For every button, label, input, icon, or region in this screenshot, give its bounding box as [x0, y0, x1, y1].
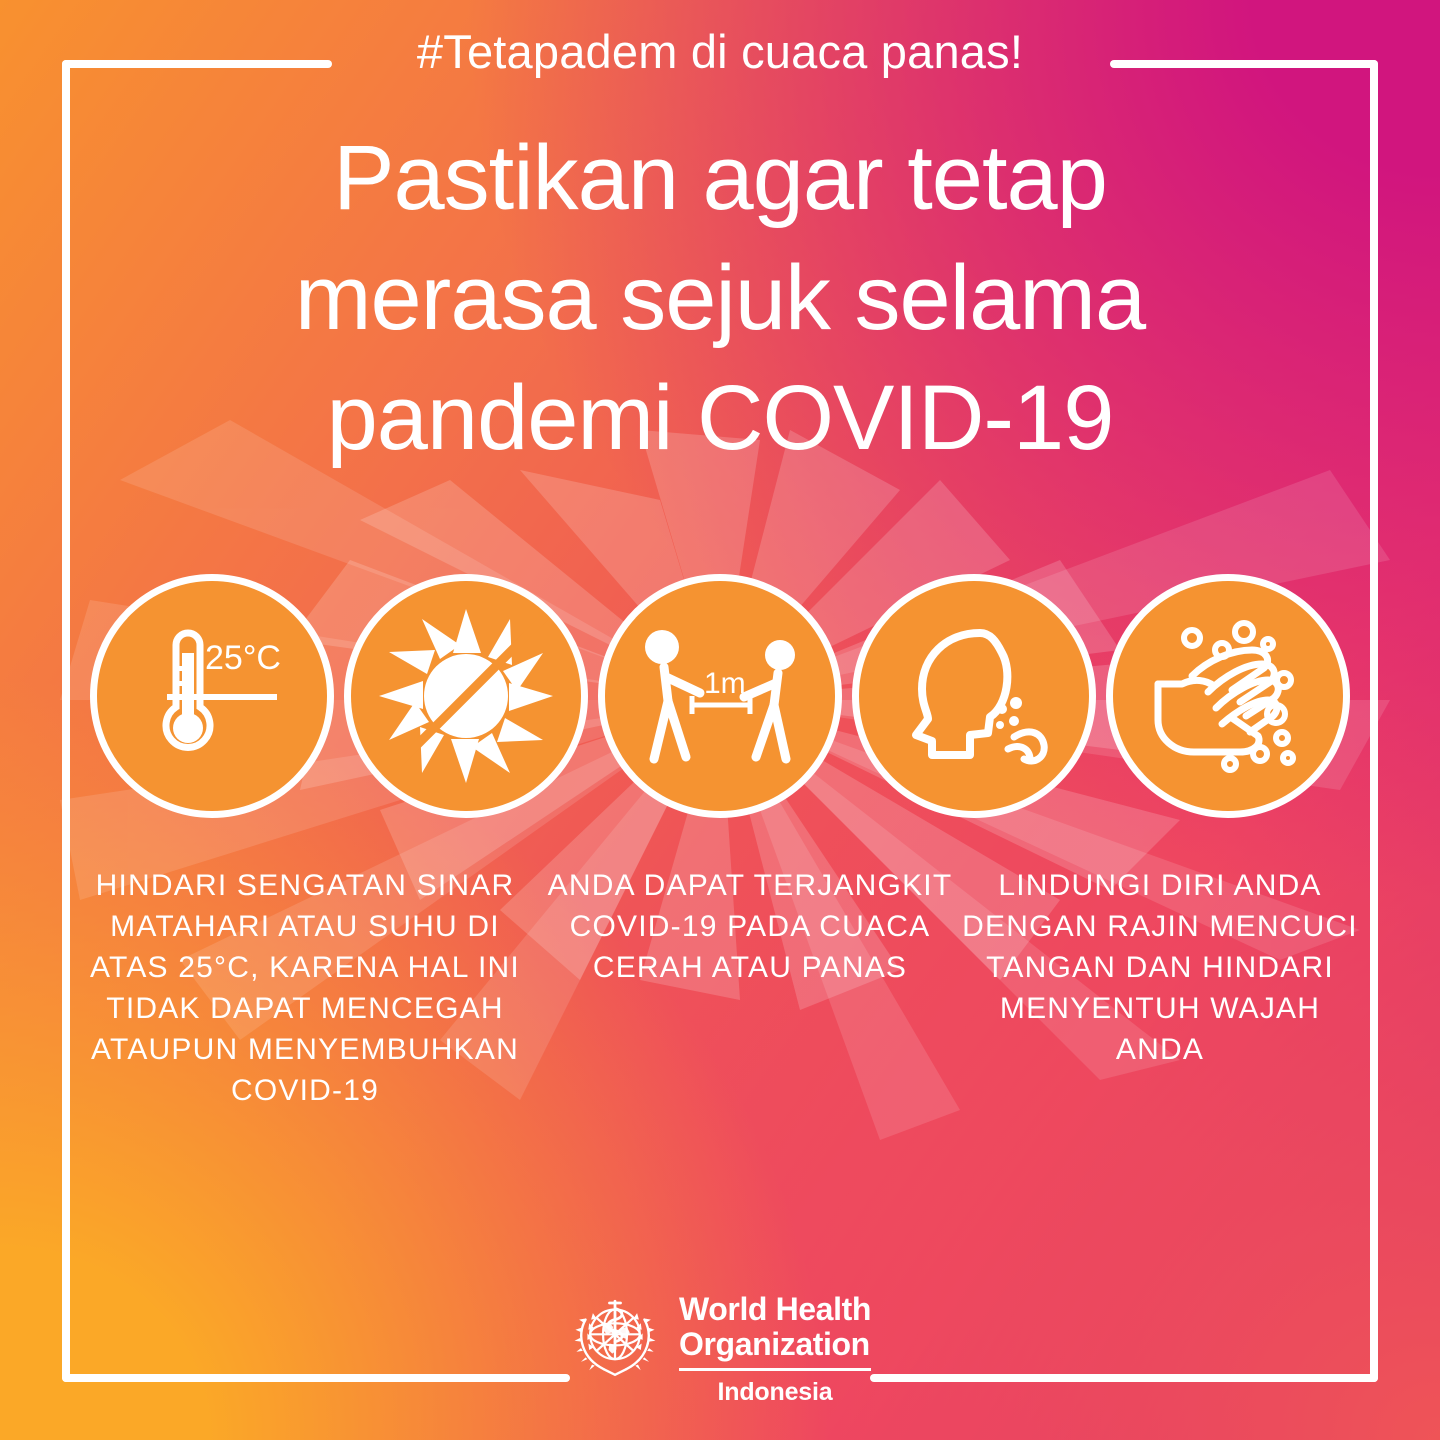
thermometer-temperature-label: 25°C: [205, 639, 281, 677]
icon-row: 25°C: [90, 572, 1350, 820]
physical-distancing-icon: 1m: [598, 574, 842, 818]
who-country-label: Indonesia: [679, 1378, 871, 1407]
thermometer-icon: 25°C: [90, 574, 334, 818]
frame-border-right: [1370, 60, 1378, 1382]
sun-icon: [344, 574, 588, 818]
caption-text: Lindungi diri Anda dengan rajin mencuci …: [960, 865, 1360, 1070]
distance-label: 1m: [704, 667, 746, 700]
frame-border-left: [62, 60, 70, 1382]
who-emblem-icon: [569, 1292, 661, 1384]
who-logo: World Health Organization Indonesia: [0, 1292, 1440, 1407]
coughing-head-icon: [852, 574, 1096, 818]
caption-row: Hindari sengatan sinar matahari atau suh…: [70, 865, 1370, 1111]
hashtag-text: #Tetapadem di cuaca panas!: [0, 24, 1440, 79]
page-title: Pastikan agar tetap merasa sejuk selama …: [210, 118, 1230, 478]
handwashing-icon: [1106, 574, 1350, 818]
headline-line-3: pandemi COVID-19: [210, 358, 1230, 478]
who-divider: [679, 1368, 871, 1371]
caption-text: Anda dapat terjangkit COVID-19 pada cuac…: [540, 865, 960, 988]
who-name-line-1: World Health: [679, 1292, 871, 1327]
who-name-line-2: Organization: [679, 1327, 871, 1362]
headline-line-1: Pastikan agar tetap: [210, 118, 1230, 238]
headline-line-2: merasa sejuk selama: [210, 238, 1230, 358]
caption-text: Hindari sengatan sinar matahari atau suh…: [70, 865, 540, 1111]
